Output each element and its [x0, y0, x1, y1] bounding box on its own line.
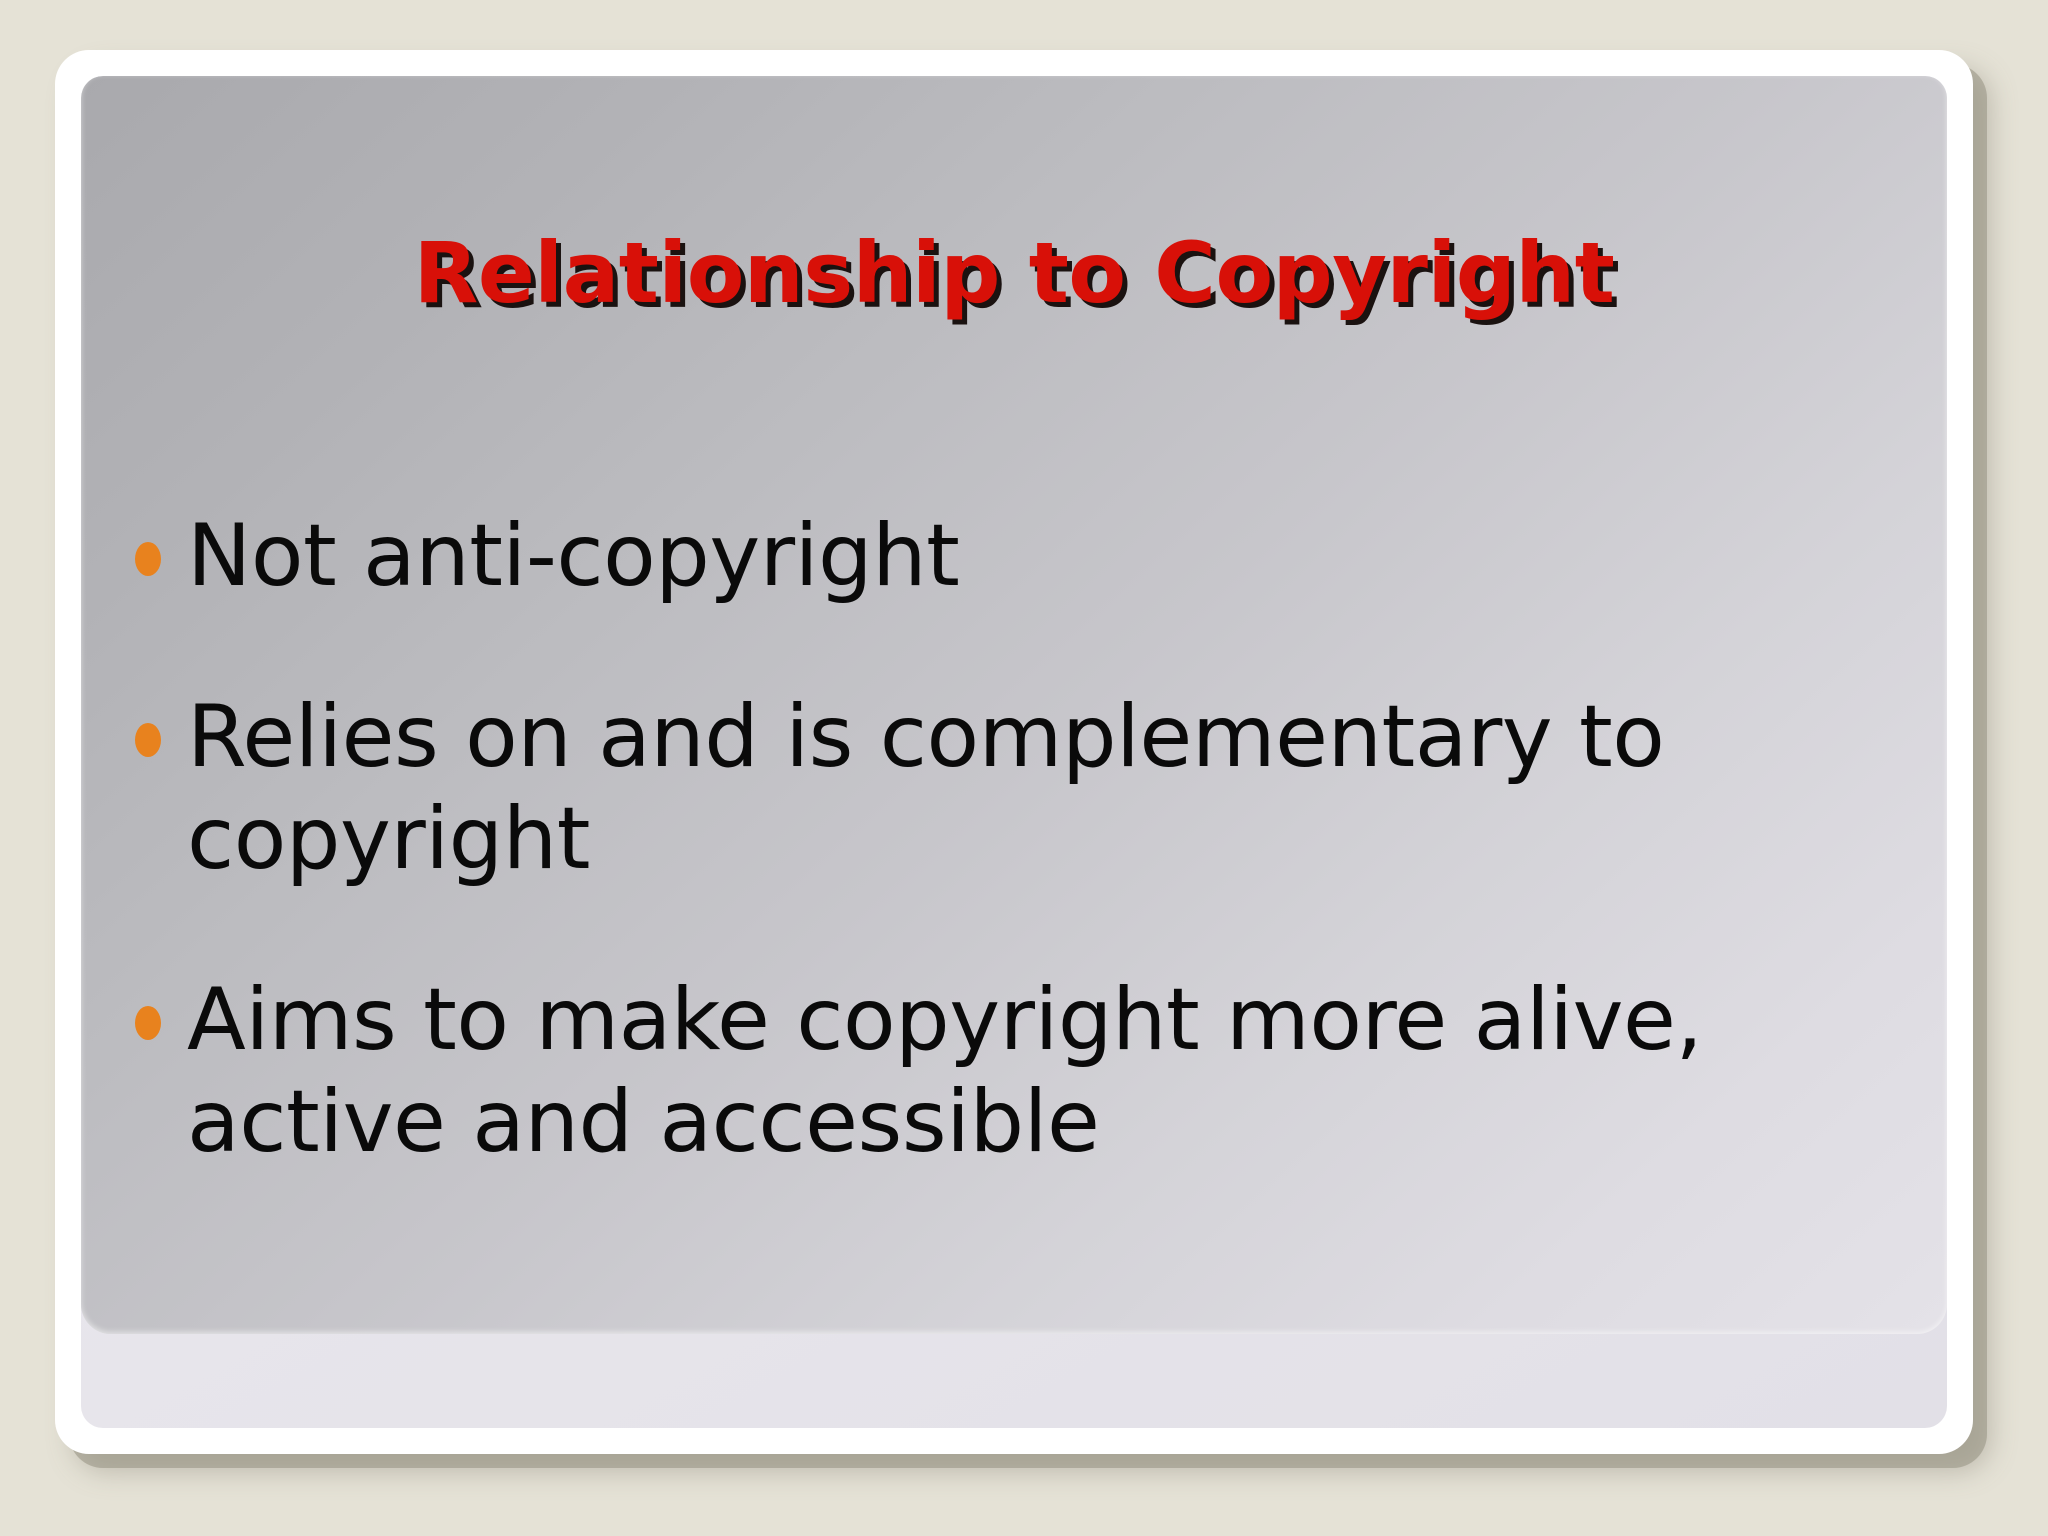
- list-item-label: Not anti-copyright: [187, 506, 1947, 607]
- slide-frame: Relationship to Copyright Not anti-copyr…: [55, 50, 1973, 1454]
- bullet-list: Not anti-copyright Relies on and is comp…: [127, 506, 1947, 1173]
- list-item-label: Relies on and is complementary to copyri…: [187, 687, 1947, 890]
- bullet-dot-icon: [135, 542, 161, 576]
- slide-title: Relationship to Copyright: [81, 231, 1947, 315]
- bullet-dot-icon: [135, 1006, 161, 1040]
- slide-stage: Relationship to Copyright Not anti-copyr…: [0, 0, 2048, 1536]
- list-item: Aims to make copyright more alive, activ…: [127, 970, 1947, 1173]
- slide-body: Relationship to Copyright Not anti-copyr…: [81, 76, 1947, 1428]
- list-item: Not anti-copyright: [127, 506, 1947, 607]
- bullet-dot-icon: [135, 723, 161, 757]
- list-item-label: Aims to make copyright more alive, activ…: [187, 970, 1947, 1173]
- list-item: Relies on and is complementary to copyri…: [127, 687, 1947, 890]
